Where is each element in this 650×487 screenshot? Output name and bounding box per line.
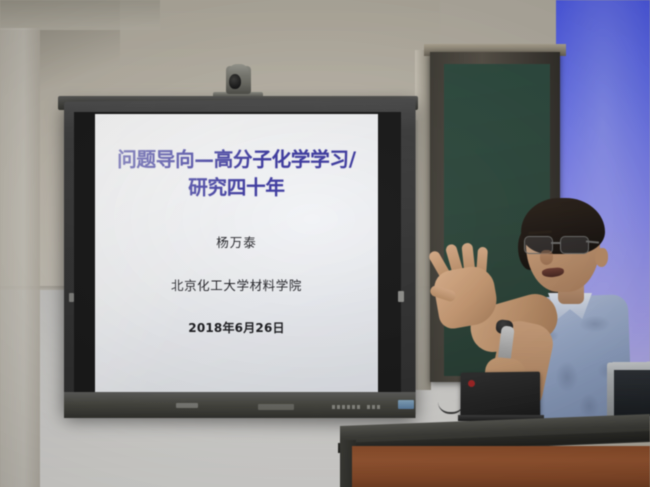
presenter-ear: [595, 248, 608, 267]
display-button[interactable]: [342, 405, 345, 409]
podium-front: [352, 446, 650, 487]
slide-organization: 北京化工大学材料学院: [171, 275, 302, 294]
display-left-indicator: [69, 293, 74, 302]
slide-date: 2018年6月26日: [188, 319, 284, 336]
slide-title: 问题导向—高分子化学学习/ 研究四十年: [95, 146, 378, 201]
display-right-indicator: [398, 291, 404, 302]
display-button[interactable]: [332, 405, 335, 409]
display-button[interactable]: [367, 405, 370, 409]
display-model-mark: [258, 404, 294, 410]
slide-title-line1: 问题导向—高分子化学学习/: [117, 148, 356, 171]
black-laptop-lid[interactable]: [460, 372, 540, 420]
ceiling-edge: [0, 0, 160, 30]
wall-pillar: [0, 28, 40, 487]
display-brand-mark: [176, 403, 198, 408]
camera-lens-icon: [229, 74, 241, 89]
display-control-buttons[interactable]: [332, 405, 380, 409]
silver-laptop-screen: [614, 370, 650, 416]
display-button[interactable]: [377, 405, 380, 409]
glasses-right-lens: [560, 236, 589, 254]
display-button[interactable]: [347, 405, 350, 409]
glasses-bridge: [551, 242, 560, 244]
display-button[interactable]: [357, 405, 360, 409]
display-button[interactable]: [372, 405, 375, 409]
laptop-logo-icon: [468, 380, 475, 387]
display-button[interactable]: [337, 405, 340, 409]
power-led-icon: [398, 400, 414, 409]
lecture-hall-photo: 问题导向—高分子化学学习/ 研究四十年 杨万泰 北京化工大学材料学院 2018年…: [0, 0, 650, 487]
slide-author: 杨万泰: [216, 232, 257, 251]
slide-title-line2: 研究四十年: [95, 174, 378, 202]
presentation-slide: 问题导向—高分子化学学习/ 研究四十年 杨万泰 北京化工大学材料学院 2018年…: [95, 114, 378, 392]
display-button[interactable]: [352, 405, 355, 409]
presenter-nose: [540, 250, 553, 265]
glasses-icon: [524, 236, 596, 252]
